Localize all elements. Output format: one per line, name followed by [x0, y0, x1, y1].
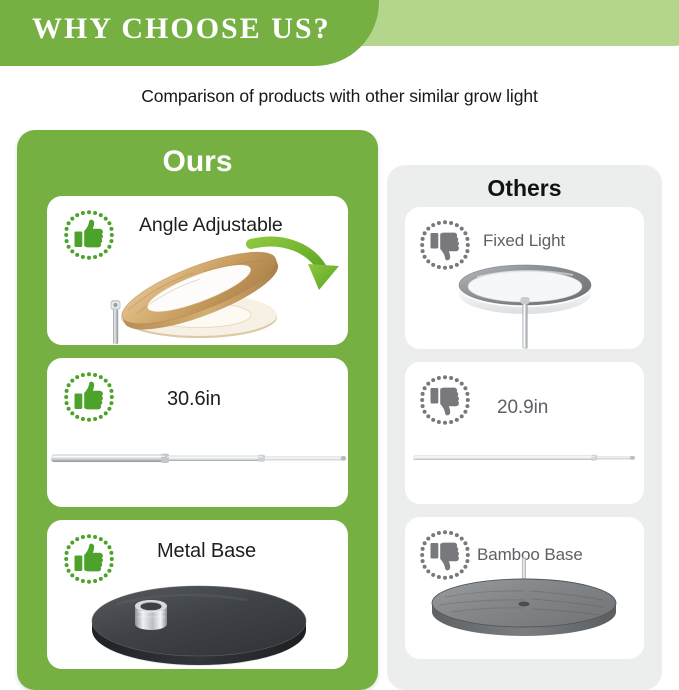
rotation-arrow-icon — [251, 242, 339, 290]
card-label: Angle Adjustable — [139, 214, 283, 237]
card-label: Metal Base — [157, 540, 256, 563]
column-ours: Ours — [17, 130, 378, 690]
subtitle: Comparison of products with other simila… — [0, 86, 679, 107]
card-label: Fixed Light — [483, 231, 565, 251]
thumbs-down-icon — [419, 529, 471, 581]
thumbs-up-icon — [63, 533, 115, 585]
card-label: 30.6in — [167, 388, 221, 411]
card-others-base: Bamboo Base — [405, 517, 644, 659]
card-ours-length: 30.6in — [47, 358, 348, 507]
page-title: WHY CHOOSE US? — [32, 12, 331, 46]
column-ours-title: Ours — [17, 145, 378, 179]
card-ours-base: Metal Base — [47, 520, 348, 669]
thumbs-down-icon — [419, 374, 471, 426]
thumbs-up-icon — [63, 209, 115, 261]
card-label: Bamboo Base — [477, 545, 583, 565]
card-ours-angle-adjustable: Angle Adjustable — [47, 196, 348, 345]
card-others-length: 20.9in — [405, 362, 644, 504]
column-others: Others — [387, 165, 662, 690]
thumbs-up-icon — [63, 371, 115, 423]
card-others-fixed-light: Fixed Light — [405, 207, 644, 349]
header-banner: WHY CHOOSE US? — [0, 0, 679, 72]
card-label: 20.9in — [497, 397, 548, 419]
thumbs-down-icon — [419, 219, 471, 271]
column-others-title: Others — [387, 175, 662, 202]
